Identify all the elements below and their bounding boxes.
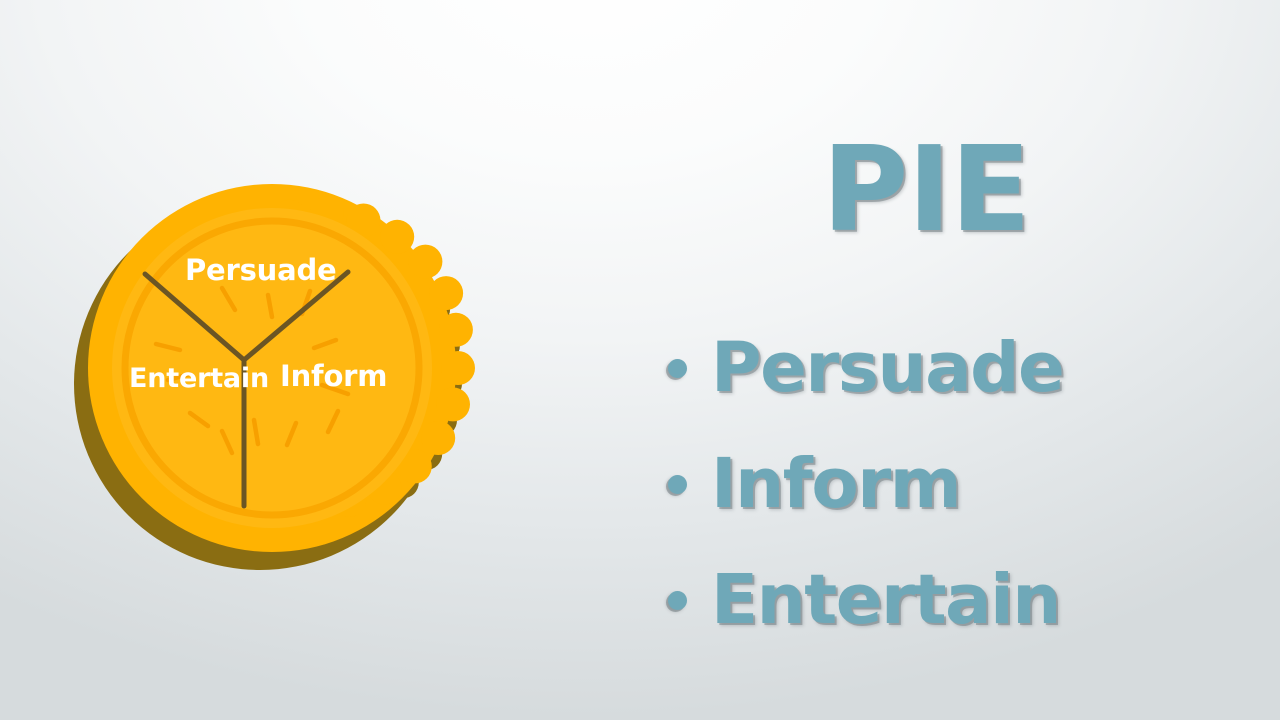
bullet-dot-icon — [668, 359, 687, 378]
pie-slice-label-persuade: Persuade — [185, 256, 337, 285]
bullet-list: Persuade Inform Entertain — [650, 310, 1250, 658]
content-column: PIE Persuade Inform Entertain — [650, 120, 1250, 660]
list-item: Persuade — [650, 310, 1250, 426]
list-item: Inform — [650, 426, 1250, 542]
slide-canvas: Persuade Inform Entertain PIE Persuade I… — [0, 0, 1280, 720]
list-item: Entertain — [650, 542, 1250, 658]
pie-slice-label-inform: Inform — [280, 362, 387, 391]
pie-chart-illustration: Persuade Inform Entertain — [72, 168, 472, 568]
pie-slice-label-entertain: Entertain — [129, 365, 269, 392]
bullet-dot-icon — [668, 591, 687, 610]
list-item-label: Inform — [711, 450, 960, 519]
list-item-label: Persuade — [711, 334, 1063, 403]
list-item-label: Entertain — [711, 566, 1060, 635]
bullet-dot-icon — [668, 475, 687, 494]
page-title: PIE — [822, 130, 1030, 248]
